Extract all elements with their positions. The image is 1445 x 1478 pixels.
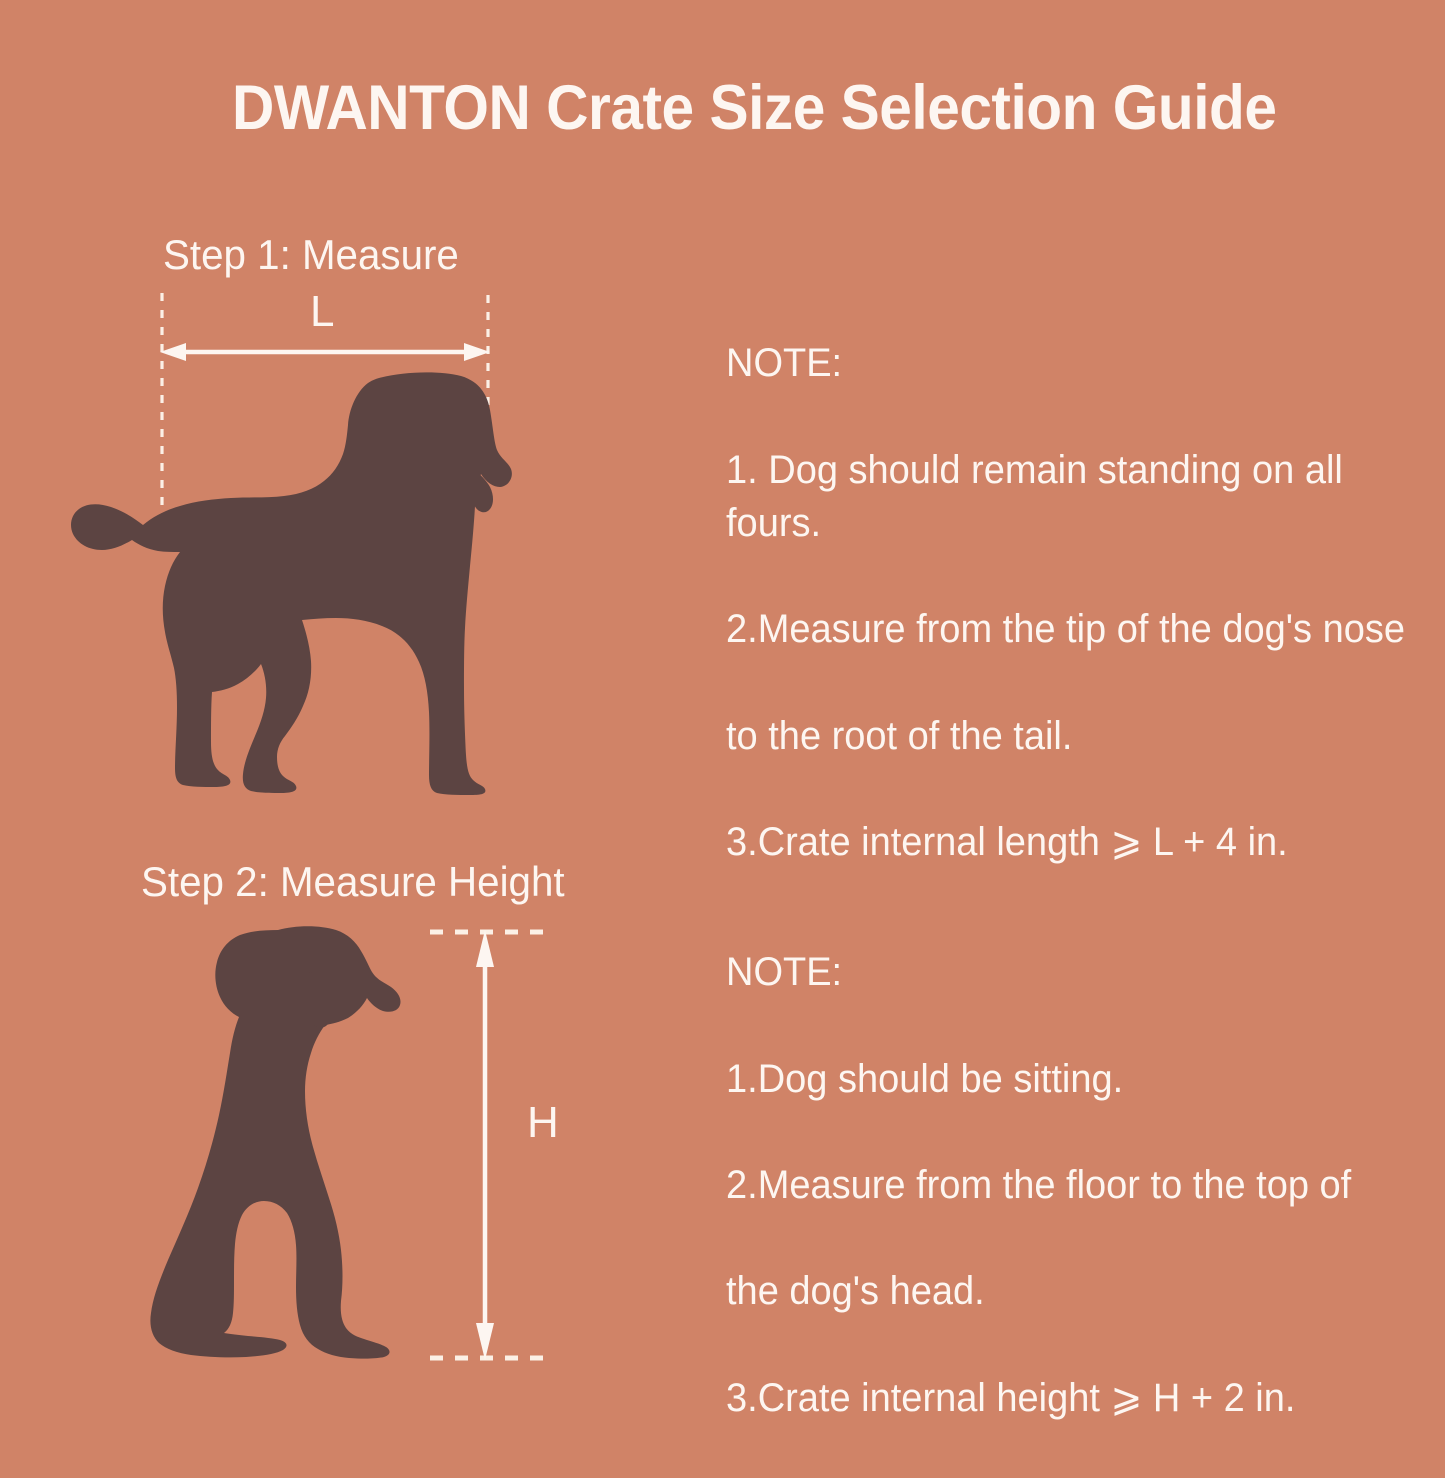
note-line-2-3: the dog's head. — [726, 1265, 1351, 1318]
note-line-1-2: 2.Measure from the tip of the dog's nose — [726, 603, 1409, 656]
dimension-letter-h: H — [527, 1101, 559, 1145]
note-line-1-1: 1. Dog should remain standing on all fou… — [726, 444, 1409, 550]
note-line-2-2: 2.Measure from the floor to the top of — [726, 1159, 1351, 1212]
note-heading-2: NOTE: — [726, 946, 1351, 999]
note-line-2-4: 3.Crate internal height ⩾ H + 2 in. — [726, 1372, 1351, 1425]
length-arrow-head-left — [160, 343, 186, 361]
note-line-1-3: to the root of the tail. — [726, 710, 1409, 763]
note-block-step-1: NOTE: 1. Dog should remain standing on a… — [726, 284, 1409, 922]
standing-dog-silhouette — [70, 370, 530, 795]
note-line-2-1: 1.Dog should be sitting. — [726, 1053, 1351, 1106]
step-1-label: Step 1: Measure — [163, 231, 459, 279]
dog-standing-body — [71, 372, 512, 795]
note-line-1-4: 3.Crate internal length ⩾ L + 4 in. — [726, 816, 1409, 869]
infographic-page: DWANTON Crate Size Selection Guide Step … — [0, 0, 1445, 1445]
page-title: DWANTON Crate Size Selection Guide — [232, 72, 1276, 144]
dimension-letter-l: L — [310, 290, 334, 334]
note-heading-1: NOTE: — [726, 337, 1409, 390]
sitting-dog-silhouette — [150, 925, 450, 1375]
dog-sitting-body — [150, 926, 400, 1358]
length-arrow-head-right — [464, 343, 490, 361]
height-arrow-head-bottom — [476, 1323, 494, 1360]
height-arrow-head-top — [476, 930, 494, 967]
step-2-label: Step 2: Measure Height — [141, 858, 565, 906]
note-block-step-2: NOTE: 1.Dog should be sitting. 2.Measure… — [726, 893, 1351, 1478]
